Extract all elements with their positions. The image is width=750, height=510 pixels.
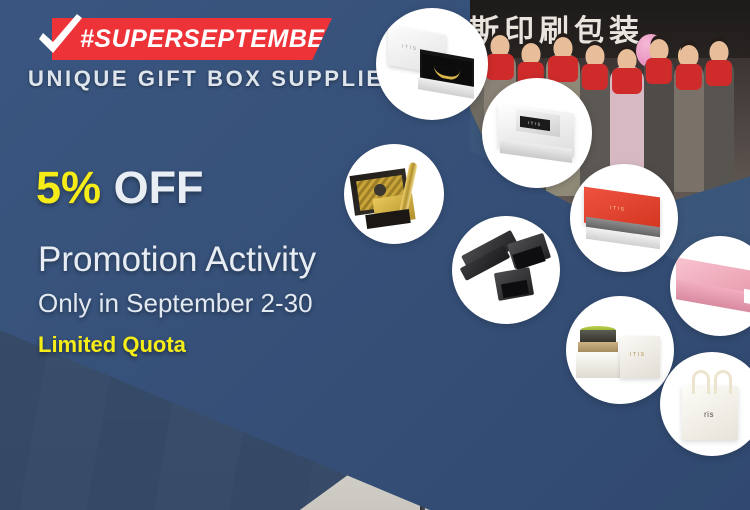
product-circle-pink-magnetic-box: [670, 236, 750, 336]
product-circle-candle-jar-box: ITIS: [566, 296, 674, 404]
promotional-banner: 得斯印刷包装: [0, 0, 750, 510]
product-circle-paper-shopping-bag: ris: [660, 352, 750, 456]
product-circle-drawer-box-necklace: ITIS: [376, 8, 488, 120]
offer-percent: 5%: [36, 162, 101, 213]
product-circle-gold-foil-box: [344, 144, 444, 244]
page-subtitle: UNIQUE GIFT BOX SUPPLIER: [28, 66, 402, 92]
offer-word: OFF: [114, 162, 204, 213]
product-brand-8: ris: [704, 410, 714, 419]
check-icon: [33, 12, 87, 66]
product-brand-6: ITIS: [630, 352, 646, 358]
ribbon-label: #SUPERSEPTEMBER: [80, 25, 343, 54]
product-circle-black-drawer-set: [452, 216, 560, 324]
supersseptember-ribbon: #SUPERSEPTEMBER: [52, 18, 332, 60]
promotion-title: Promotion Activity: [38, 240, 316, 280]
offer-headline: 5% OFF: [36, 162, 204, 214]
limited-quota-note: Limited Quota: [38, 332, 186, 358]
product-circle-red-book-box: ITIS: [570, 164, 678, 272]
promotion-dates: Only in September 2-30: [38, 288, 313, 319]
